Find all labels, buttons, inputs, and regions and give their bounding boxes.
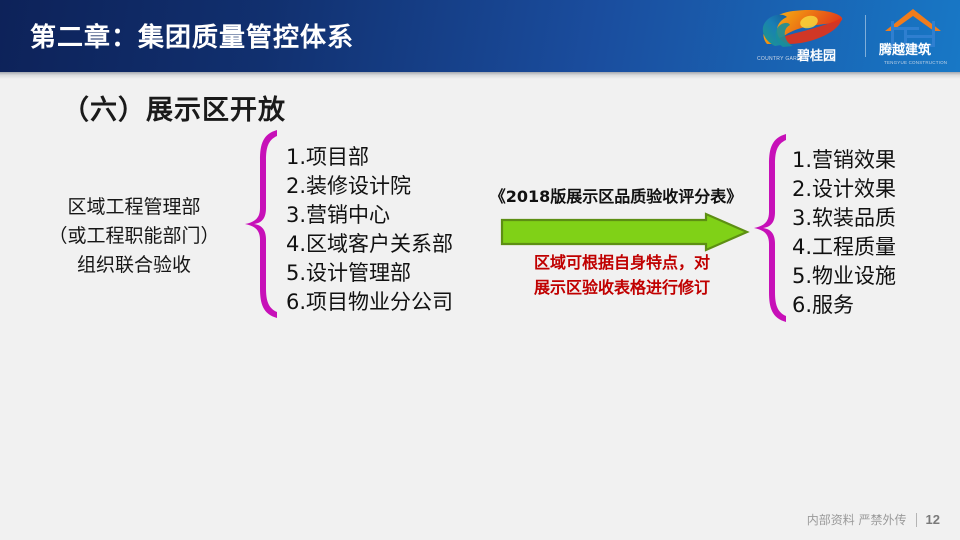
acceptance-criteria-list: 1.营销效果 2.设计效果 3.软装品质 4.工程质量 5.物业设施 6.服务 bbox=[792, 146, 896, 320]
list-item: 4.区域客户关系部 bbox=[286, 230, 453, 259]
left-block-line-3: 组织联合验收 bbox=[26, 251, 242, 280]
revision-note-line-1: 区域可根据自身特点，对 bbox=[492, 250, 752, 275]
list-item: 4.工程质量 bbox=[792, 233, 896, 262]
scoring-sheet-caption: 《2018版展示区品质验收评分表》 bbox=[473, 183, 759, 207]
left-block-line-2: （或工程职能部门） bbox=[26, 222, 242, 251]
right-arrow-icon bbox=[500, 212, 750, 252]
list-item: 1.营销效果 bbox=[792, 146, 896, 175]
right-curly-brace-icon bbox=[752, 132, 790, 324]
logo-divider bbox=[865, 15, 866, 57]
left-curly-brace-icon bbox=[243, 128, 281, 320]
left-block-line-1: 区域工程管理部 bbox=[26, 193, 242, 222]
country-garden-chinese-label: 碧桂园 bbox=[797, 45, 836, 64]
header-shadow bbox=[0, 72, 960, 79]
slide-canvas: 第二章：集团质量管控体系 bbox=[0, 0, 960, 540]
logo-cluster: COUNTRY GARDEN 碧桂园 腾越建筑 TENGYUE CONSTRUC… bbox=[751, 4, 952, 68]
list-item: 2.设计效果 bbox=[792, 175, 896, 204]
list-item: 3.软装品质 bbox=[792, 204, 896, 233]
slide-footer: 内部资料 严禁外传 12 bbox=[807, 511, 940, 528]
list-item: 6.服务 bbox=[792, 291, 896, 320]
section-subtitle: （六）展示区开放 bbox=[62, 88, 286, 127]
tengyue-chinese-label: 腾越建筑 bbox=[879, 39, 931, 58]
list-item: 5.设计管理部 bbox=[286, 259, 453, 288]
list-item: 2.装修设计院 bbox=[286, 172, 453, 201]
revision-note-line-2: 展示区验收表格进行修订 bbox=[492, 275, 752, 300]
tengyue-english-label: TENGYUE CONSTRUCTION bbox=[884, 60, 947, 65]
footer-divider bbox=[916, 513, 917, 527]
list-item: 3.营销中心 bbox=[286, 201, 453, 230]
page-title: 第二章：集团质量管控体系 bbox=[30, 17, 354, 54]
participants-list: 1.项目部 2.装修设计院 3.营销中心 4.区域客户关系部 5.设计管理部 6… bbox=[286, 143, 453, 317]
tengyue-logo: 腾越建筑 TENGYUE CONSTRUCTION bbox=[876, 5, 952, 67]
right-brace bbox=[752, 132, 790, 329]
country-garden-logo: COUNTRY GARDEN 碧桂园 bbox=[751, 6, 855, 66]
left-brace bbox=[243, 128, 281, 325]
confidential-notice: 内部资料 严禁外传 bbox=[807, 511, 907, 528]
list-item: 1.项目部 bbox=[286, 143, 453, 172]
country-garden-swoosh-icon bbox=[753, 6, 845, 50]
list-item: 5.物业设施 bbox=[792, 262, 896, 291]
revision-note: 区域可根据自身特点，对 展示区验收表格进行修订 bbox=[492, 250, 752, 300]
page-number: 12 bbox=[926, 512, 940, 527]
list-item: 6.项目物业分公司 bbox=[286, 288, 453, 317]
left-department-block: 区域工程管理部 （或工程职能部门） 组织联合验收 bbox=[26, 193, 242, 280]
